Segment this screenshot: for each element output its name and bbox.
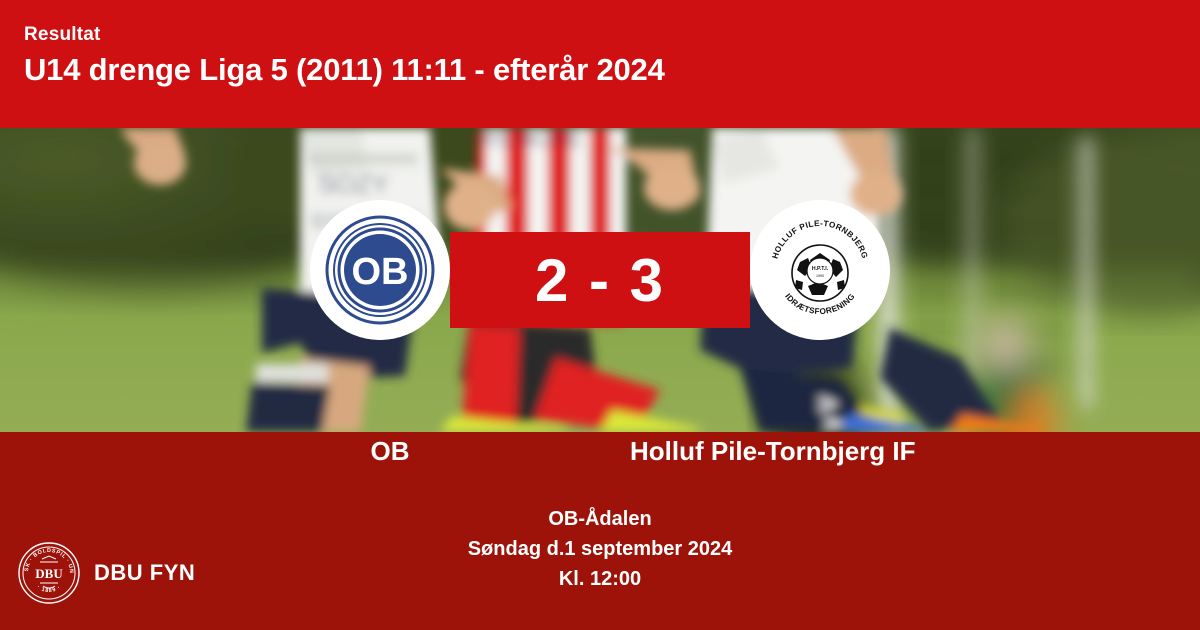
svg-text:H.P.T.I.: H.P.T.I.: [812, 266, 829, 272]
home-team-badge: OB: [310, 200, 450, 340]
away-team-name: Holluf Pile-Tornbjerg IF: [630, 436, 1020, 467]
svg-text:RS BOVE: RS BOVE: [480, 128, 582, 151]
dbu-footer: DANSK · BOLDSPIL · UNION · 1889 · DBU DB…: [18, 542, 195, 604]
svg-text:1990: 1990: [816, 274, 824, 278]
page-title: U14 drenge Liga 5 (2011) 11:11 - efterår…: [24, 52, 665, 88]
away-team-badge: HOLLUF PILE-TORNBJERG IDRÆTSFORENING H.P…: [750, 200, 890, 340]
header-kicker: Resultat: [24, 24, 101, 46]
home-badge-text: OB: [352, 251, 409, 293]
score-value: 2 - 3: [450, 232, 750, 328]
dbu-seal-icon: DANSK · BOLDSPIL · UNION · 1889 · DBU: [18, 542, 80, 604]
svg-text:DBU: DBU: [35, 566, 63, 581]
home-team-name: OB: [300, 436, 480, 467]
venue-text: OB-Ådalen: [0, 504, 1200, 534]
result-graphic: Resultat U14 drenge Liga 5 (2011) 11:11 …: [0, 0, 1200, 630]
svg-text:SOZY: SOZY: [318, 169, 389, 199]
svg-text:· 1889 ·: · 1889 ·: [36, 584, 63, 594]
dbu-org-label: DBU FYN: [94, 560, 195, 586]
header-banner: Resultat U14 drenge Liga 5 (2011) 11:11 …: [0, 0, 1200, 128]
